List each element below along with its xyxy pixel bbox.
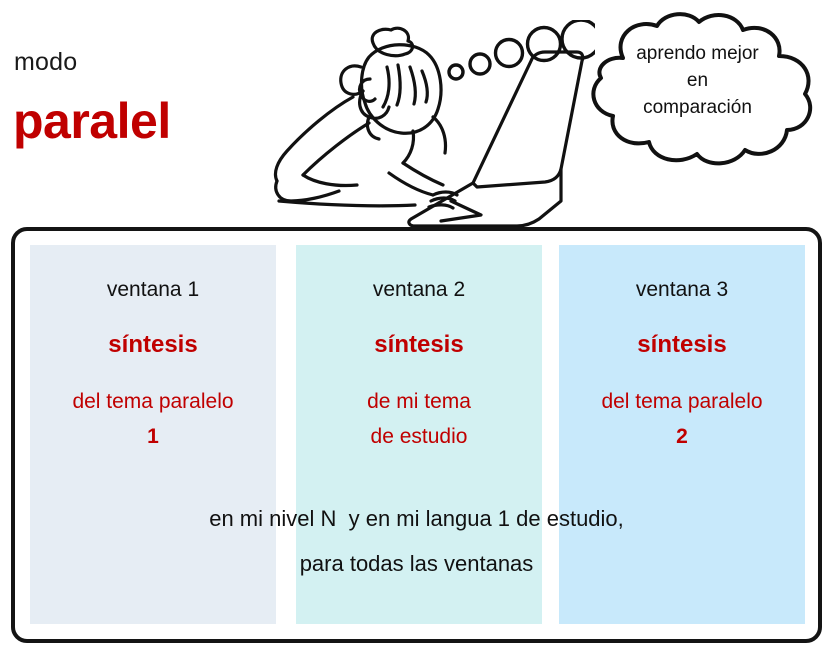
window-title-3: ventana 3 [559, 278, 805, 302]
window-subtitle-1: del tema paralelo 1 [30, 384, 276, 454]
window-panel-2[interactable]: ventana 2 síntesis de mi tema de estudio [296, 245, 542, 624]
bubble-line-2: en [585, 67, 810, 94]
window-subtitle-1-line-2: 1 [30, 419, 276, 454]
window-subtitle-3-line-2: 2 [559, 419, 805, 454]
window-subtitle-2-line-2: de estudio [296, 419, 542, 454]
window-subtitle-3: del tema paralelo 2 [559, 384, 805, 454]
window-subtitle-2: de mi tema de estudio [296, 384, 542, 454]
window-synthesis-1: síntesis [30, 331, 276, 359]
window-subtitle-3-line-1: del tema paralelo [559, 384, 805, 419]
window-synthesis-2: síntesis [296, 331, 542, 359]
diagram-canvas: modo paralel [0, 0, 834, 653]
bubble-line-3: comparación [585, 94, 810, 121]
window-subtitle-2-line-1: de mi tema [296, 384, 542, 419]
bubble-line-1: aprendo mejor [585, 40, 810, 67]
window-synthesis-3: síntesis [559, 331, 805, 359]
header-kicker: modo [14, 48, 77, 77]
window-title-2: ventana 2 [296, 278, 542, 302]
thought-bubble-text: aprendo mejor en comparación [585, 40, 810, 121]
window-panel-3[interactable]: ventana 3 síntesis del tema paralelo 2 [559, 245, 805, 624]
window-title-1: ventana 1 [30, 278, 276, 302]
window-panel-1[interactable]: ventana 1 síntesis del tema paralelo 1 [30, 245, 276, 624]
window-subtitle-1-line-1: del tema paralelo [30, 384, 276, 419]
page-title: paralel [13, 92, 171, 150]
